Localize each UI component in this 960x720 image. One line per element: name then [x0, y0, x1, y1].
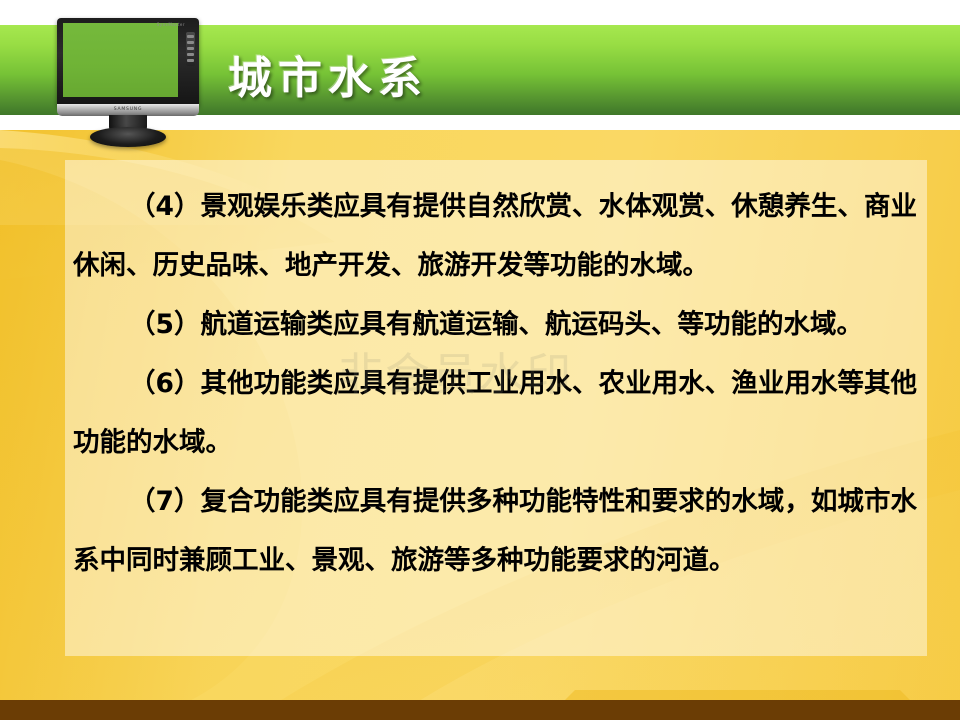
monitor-screen — [63, 23, 178, 97]
paragraph-6: （6）其他功能类应具有提供工业用水、农业用水、渔业用水等其他功能的水域。 — [65, 354, 927, 472]
monitor-brand-label: SAMSUNG — [114, 107, 143, 112]
content-panel: （4）景观娱乐类应具有提供自然欣赏、水体观赏、休憩养生、商业休闲、历史品味、地产… — [65, 160, 927, 656]
monitor-model-label: SyncMaster — [157, 22, 185, 27]
slide-canvas: 城市水系 SyncMaster SAMSUNG （4）景观娱乐类应具有提供自然欣… — [0, 0, 960, 720]
page-title: 城市水系 — [228, 42, 428, 106]
bottom-accent-bar — [0, 700, 960, 720]
monitor-bezel: SyncMaster — [57, 18, 199, 106]
paragraph-7: （7）复合功能类应具有提供多种功能特性和要求的水域，如城市水系中同时兼顾工业、景… — [65, 472, 927, 590]
monitor-image: SyncMaster SAMSUNG — [57, 18, 205, 140]
monitor-control-buttons — [186, 32, 195, 66]
monitor-stand-base — [90, 127, 166, 147]
paragraph-5: （5）航道运输类应具有航道运输、航运码头、等功能的水域。 — [65, 295, 927, 354]
paragraph-4: （4）景观娱乐类应具有提供自然欣赏、水体观赏、休憩养生、商业休闲、历史品味、地产… — [65, 160, 927, 295]
content-text-body: （4）景观娱乐类应具有提供自然欣赏、水体观赏、休憩养生、商业休闲、历史品味、地产… — [65, 160, 927, 656]
